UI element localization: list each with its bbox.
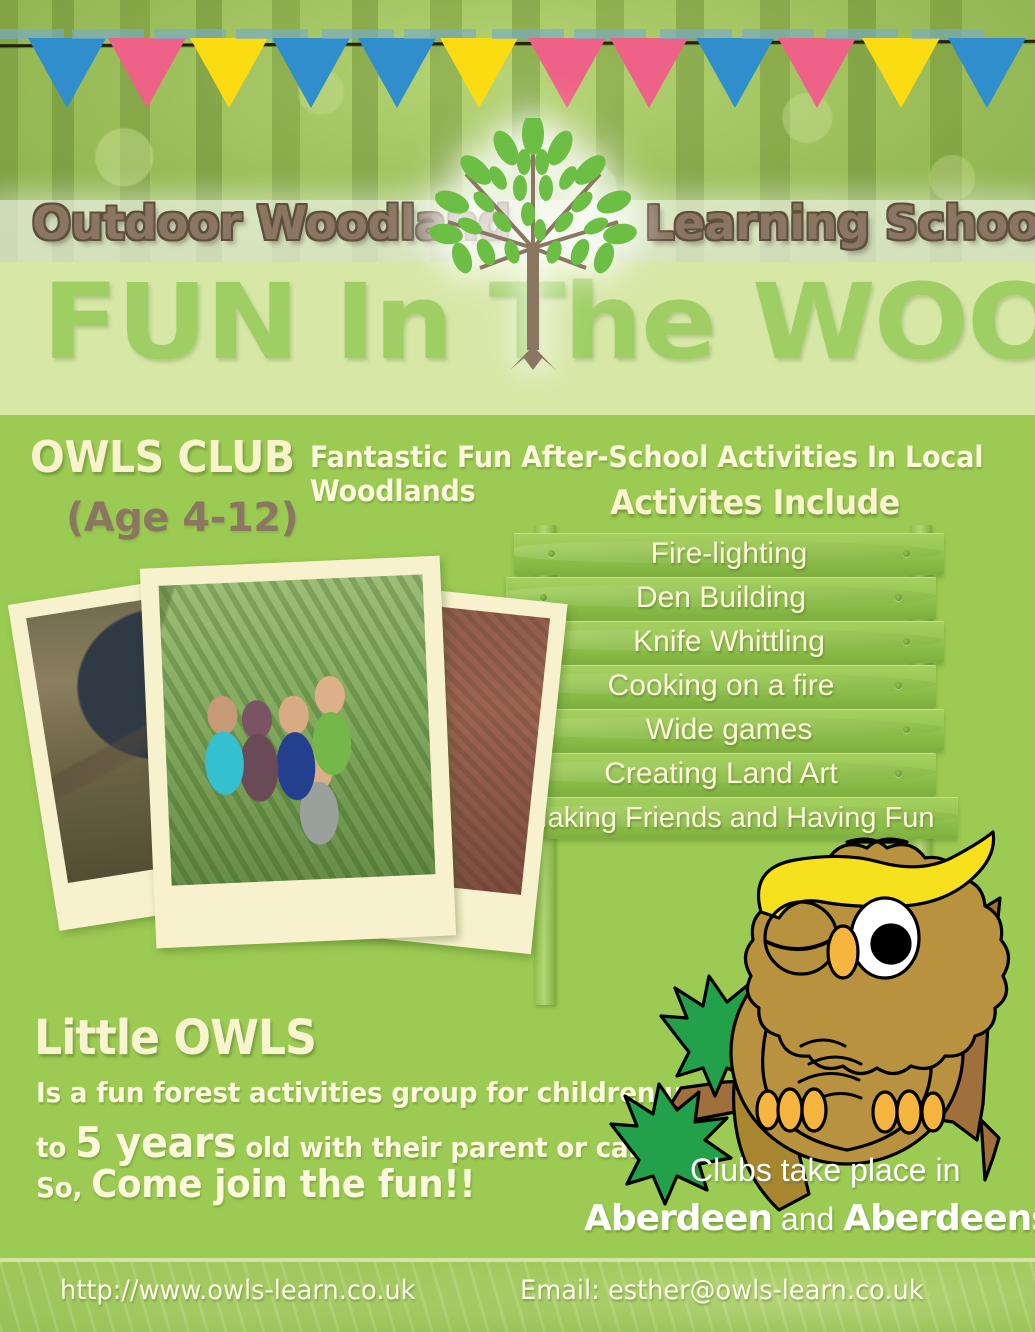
activities-heading: Activites Include [518,483,992,523]
bunting-flag-triangle [190,38,268,108]
location-aberdeen: Aberdeen [584,1198,772,1239]
bunting-flag-triangle [948,38,1026,108]
bunting-flag-triangle [358,38,436,108]
header-title-right: Learning School [645,196,1035,250]
poster-root: Outdoor Woodland Learning School FUN In … [0,0,1035,1332]
bunting-flag-triangle [272,38,350,108]
little-owls-line-2-prefix: to [36,1131,75,1164]
clubs-location-places: Aberdeen and Aberdeenshire [584,1198,1035,1239]
location-aberdeenshire: Aberdeenshire [843,1198,1035,1239]
bunting-flag-triangle [28,38,106,108]
bunting-decoration [0,0,1035,120]
little-owls-call-to-action: Come join the fun!! [91,1162,475,1206]
website-url[interactable]: http://www.owls-learn.co.uk [60,1275,415,1306]
owls-club-heading: OWLS CLUB [30,432,295,483]
location-conjunction: and [772,1201,843,1237]
little-owls-line-2: to 5 years old with their parent or care… [36,1118,677,1167]
bunting-flag-triangle [862,38,940,108]
little-owls-heading: Little OWLS [34,1010,316,1066]
little-owls-age-emphasis: 5 years [75,1118,236,1167]
little-owls-line-3-prefix: So, [36,1171,91,1204]
little-owls-line-3: So, Come join the fun!! [36,1162,475,1206]
photo-collage [20,530,580,1000]
photo-group-of-children-in-ferns [140,556,456,949]
bunting-flag-triangle [528,38,606,108]
bunting-flag-triangle [610,38,688,108]
bunting-flag-triangle [108,38,186,108]
clubs-location-intro: Clubs take place in [690,1152,960,1189]
tree-logo-icon [428,118,638,370]
bunting-flag-triangle [440,38,518,108]
email-address[interactable]: Email: esther@owls-learn.co.uk [520,1275,924,1306]
bunting-flag-triangle [696,38,774,108]
bunting-flag-triangle [778,38,856,108]
